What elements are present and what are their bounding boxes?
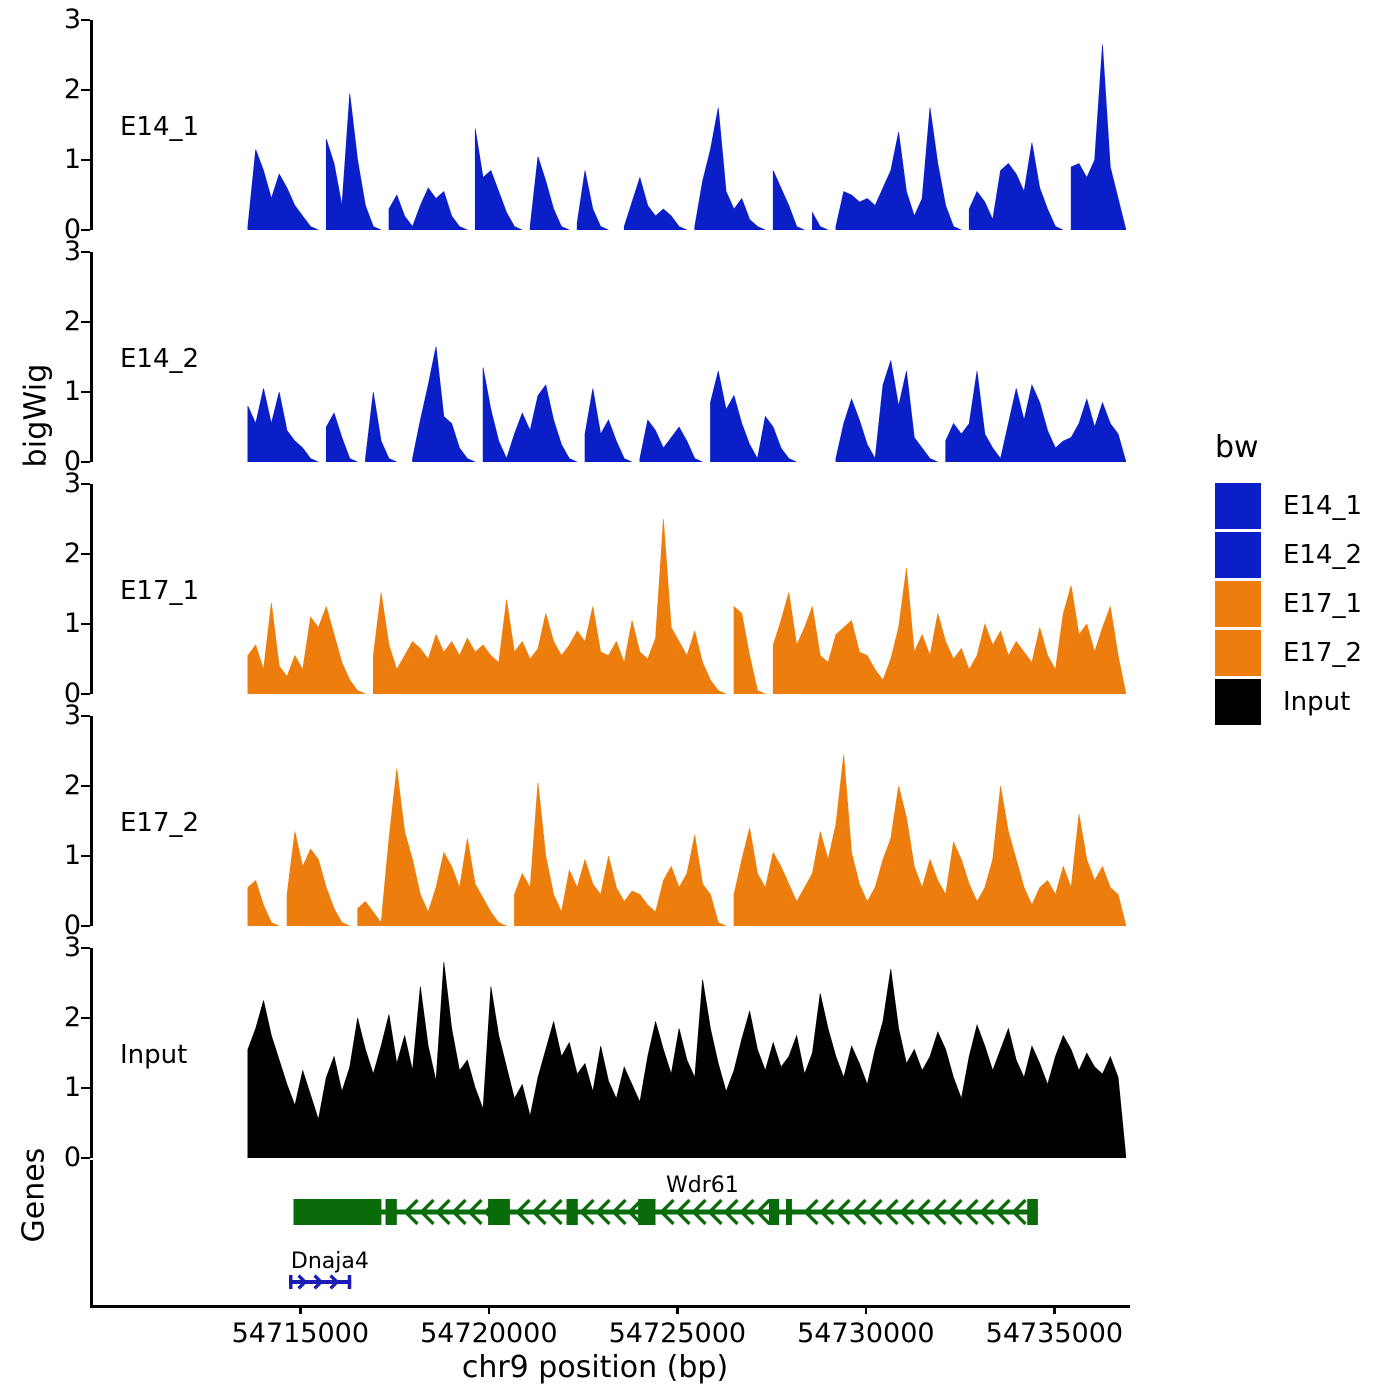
legend-item-input[interactable]: Input	[1215, 677, 1395, 726]
track-label-e14_2: E14_2	[120, 344, 199, 374]
y-tick-label: 0	[64, 1144, 81, 1171]
y-tick	[81, 483, 90, 486]
x-tick-label: 54735000	[986, 1318, 1123, 1349]
y-tick	[81, 1017, 90, 1020]
legend: bw E14_1E14_2E17_1E17_2Input	[1215, 430, 1395, 726]
y-tick	[81, 1157, 90, 1160]
legend-item-e17_2[interactable]: E17_2	[1215, 628, 1395, 677]
y-tick	[81, 251, 90, 254]
y-tick	[81, 947, 90, 950]
y-tick-label: 1	[64, 378, 81, 405]
x-tick-label: 54730000	[797, 1318, 934, 1349]
y-tick-label: 2	[64, 772, 81, 799]
y-tick	[81, 321, 90, 324]
x-axis-line	[90, 1305, 1130, 1308]
y-tick	[81, 715, 90, 718]
genes-panel: Wdr61Dnaja4	[90, 1160, 1130, 1305]
legend-swatch	[1215, 630, 1261, 676]
x-tick	[1053, 1305, 1056, 1314]
y-tick	[81, 461, 90, 464]
legend-swatch	[1215, 679, 1261, 725]
y-tick-label: 1	[64, 610, 81, 637]
gene-exon	[769, 1199, 779, 1225]
y-axis-spine	[90, 948, 93, 1158]
y-axis-title: bigWig	[19, 428, 54, 468]
y-tick-label: 1	[64, 146, 81, 173]
legend-swatch	[1215, 532, 1261, 578]
gene-end-cap	[289, 1275, 293, 1289]
wig-area-e17_2[interactable]	[240, 716, 1126, 926]
y-tick	[81, 553, 90, 556]
y-tick	[81, 159, 90, 162]
genes-axis-title: Genes	[17, 1203, 52, 1243]
y-tick-label: 2	[64, 308, 81, 335]
legend-label: E17_2	[1283, 638, 1362, 668]
y-tick-label: 2	[64, 540, 81, 567]
track-panel-e17_1: 0123E17_1	[90, 484, 1130, 694]
y-tick-label: 1	[64, 842, 81, 869]
track-panel-e17_2: 0123E17_2	[90, 716, 1130, 926]
y-axis-spine	[90, 484, 93, 694]
track-label-input: Input	[120, 1040, 187, 1070]
x-tick-label: 54725000	[609, 1318, 746, 1349]
y-tick	[81, 1087, 90, 1090]
track-label-e17_2: E17_2	[120, 808, 199, 838]
genes-axis-spine	[90, 1160, 93, 1305]
x-tick-label: 54720000	[420, 1318, 557, 1349]
y-tick-label: 3	[64, 470, 81, 497]
y-tick	[81, 693, 90, 696]
wig-area-input[interactable]	[240, 948, 1126, 1158]
x-tick-label: 54715000	[232, 1318, 369, 1349]
gene-end-cap	[294, 1199, 298, 1225]
y-tick	[81, 925, 90, 928]
legend-label: E14_1	[1283, 491, 1362, 521]
gene-exon	[294, 1199, 382, 1225]
wig-area-e14_2[interactable]	[240, 252, 1126, 462]
y-axis-spine	[90, 20, 93, 230]
legend-swatch	[1215, 483, 1261, 529]
x-tick	[299, 1305, 302, 1314]
legend-item-e14_2[interactable]: E14_2	[1215, 530, 1395, 579]
legend-items: E14_1E14_2E17_1E17_2Input	[1215, 481, 1395, 726]
legend-swatch	[1215, 581, 1261, 627]
y-tick	[81, 89, 90, 92]
y-axis-spine	[90, 252, 93, 462]
gene-label-wdr61: Wdr61	[666, 1173, 739, 1198]
y-tick-label: 3	[64, 934, 81, 961]
y-tick	[81, 19, 90, 22]
legend-title: bw	[1215, 430, 1395, 465]
legend-label: E17_1	[1283, 589, 1362, 619]
y-tick	[81, 855, 90, 858]
gene-exon	[786, 1199, 792, 1225]
y-tick	[81, 229, 90, 232]
legend-item-e17_1[interactable]: E17_1	[1215, 579, 1395, 628]
track-panel-e14_1: 0123E14_1	[90, 20, 1130, 230]
gene-end-cap	[348, 1275, 352, 1289]
y-tick-label: 3	[64, 6, 81, 33]
y-tick-label: 3	[64, 238, 81, 265]
gene-label-dnaja4: Dnaja4	[291, 1249, 369, 1274]
legend-label: Input	[1283, 687, 1350, 717]
gene-exon	[567, 1199, 578, 1225]
gene-exon	[488, 1199, 510, 1225]
x-tick	[676, 1305, 679, 1314]
track-panel-input: 0123Input	[90, 948, 1130, 1158]
x-tick	[865, 1305, 868, 1314]
legend-item-e14_1[interactable]: E14_1	[1215, 481, 1395, 530]
y-tick-label: 2	[64, 76, 81, 103]
wig-area-e14_1[interactable]	[240, 20, 1126, 230]
x-tick	[488, 1305, 491, 1314]
wig-area-e17_1[interactable]	[240, 484, 1126, 694]
track-label-e17_1: E17_1	[120, 576, 199, 606]
y-axis-spine	[90, 716, 93, 926]
track-label-e14_1: E14_1	[120, 112, 199, 142]
y-tick	[81, 785, 90, 788]
y-tick-label: 1	[64, 1074, 81, 1101]
gene-exon	[386, 1199, 397, 1225]
x-axis-title: chr9 position (bp)	[0, 1350, 1190, 1385]
y-tick-label: 3	[64, 702, 81, 729]
legend-label: E14_2	[1283, 540, 1362, 570]
y-tick-label: 2	[64, 1004, 81, 1031]
y-tick	[81, 623, 90, 626]
track-panel-e14_2: 0123E14_2	[90, 252, 1130, 462]
gene-end-cap	[1034, 1199, 1038, 1225]
y-tick	[81, 391, 90, 394]
